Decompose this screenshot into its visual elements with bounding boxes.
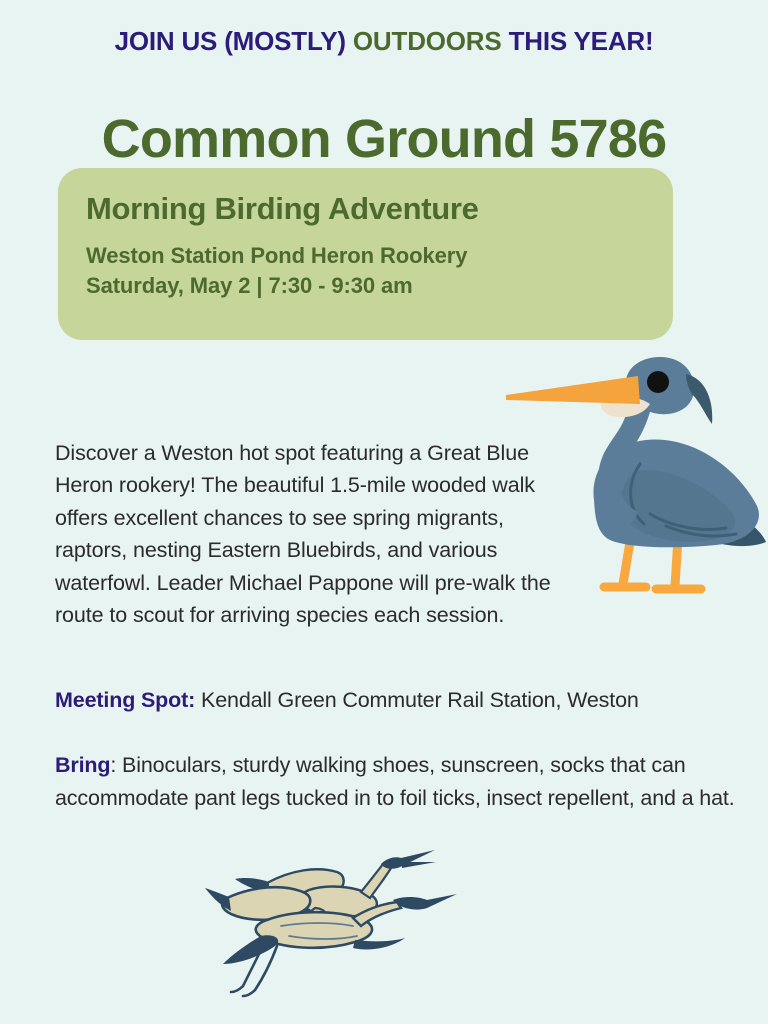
- flying-cranes-illustration: [205, 848, 460, 1008]
- heron-feet: [604, 587, 701, 589]
- page-title: Common Ground 5786: [0, 108, 768, 170]
- poster: JOIN US (MOSTLY) OUTDOORS THIS YEAR! Com…: [0, 0, 768, 1024]
- description-paragraph: Discover a Weston hot spot featuring a G…: [55, 437, 560, 632]
- meeting-spot-line: Meeting Spot: Kendall Green Commuter Rai…: [55, 684, 755, 717]
- meeting-spot-label: Meeting Spot:: [55, 688, 195, 712]
- flying-cranes-icon: [205, 848, 460, 1008]
- event-location: Weston Station Pond Heron Rookery: [86, 241, 645, 271]
- kicker-segment-1: JOIN US (MOSTLY): [115, 26, 353, 56]
- kicker-headline: JOIN US (MOSTLY) OUTDOORS THIS YEAR!: [0, 26, 768, 57]
- heron-beak: [506, 376, 640, 404]
- kicker-segment-3: THIS YEAR!: [509, 26, 654, 56]
- meeting-spot-value: Kendall Green Commuter Rail Station, Wes…: [195, 688, 639, 712]
- bring-line: Bring: Binoculars, sturdy walking shoes,…: [55, 749, 745, 814]
- crane-rear-neck: [361, 864, 391, 898]
- crane-front-head-beak: [393, 894, 457, 910]
- crane-front-upper-wing-tip: [205, 888, 231, 911]
- crane-rear-lower-mandible: [401, 862, 436, 868]
- bring-value: : Binoculars, sturdy walking shoes, suns…: [55, 753, 735, 810]
- bring-label: Bring: [55, 753, 110, 777]
- event-card: Morning Birding Adventure Weston Station…: [58, 168, 673, 340]
- event-datetime: Saturday, May 2 | 7:30 - 9:30 am: [86, 271, 645, 301]
- event-name: Morning Birding Adventure: [86, 190, 645, 227]
- kicker-segment-2: OUTDOORS: [353, 26, 509, 56]
- heron-eye: [647, 371, 669, 393]
- crane-front-wing-tip-lower: [223, 935, 278, 964]
